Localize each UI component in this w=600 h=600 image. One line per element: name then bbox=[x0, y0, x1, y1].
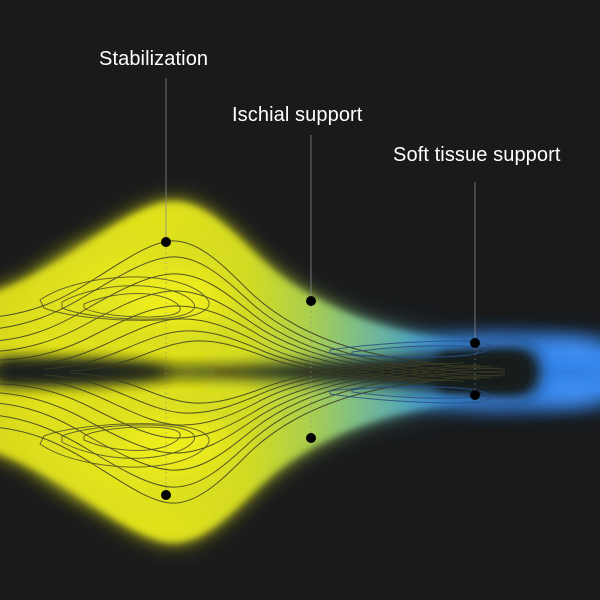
annotation-label-stabilization: Stabilization bbox=[99, 48, 208, 70]
marker-mirror-soft-tissue-support[interactable] bbox=[470, 390, 480, 400]
marker-stabilization[interactable] bbox=[161, 237, 171, 247]
annotation-label-soft-tissue-support: Soft tissue support bbox=[393, 144, 561, 166]
marker-soft-tissue-support[interactable] bbox=[470, 338, 480, 348]
marker-mirror-ischial-support[interactable] bbox=[306, 433, 316, 443]
marker-mirror-stabilization[interactable] bbox=[161, 490, 171, 500]
annotation-label-ischial-support: Ischial support bbox=[232, 104, 362, 126]
heatmap-canvas bbox=[0, 0, 600, 600]
hotspot-stabilization-core bbox=[80, 245, 270, 355]
pressure-map-figure: Stabilization Ischial support Soft tissu… bbox=[0, 0, 600, 600]
marker-ischial-support[interactable] bbox=[306, 296, 316, 306]
